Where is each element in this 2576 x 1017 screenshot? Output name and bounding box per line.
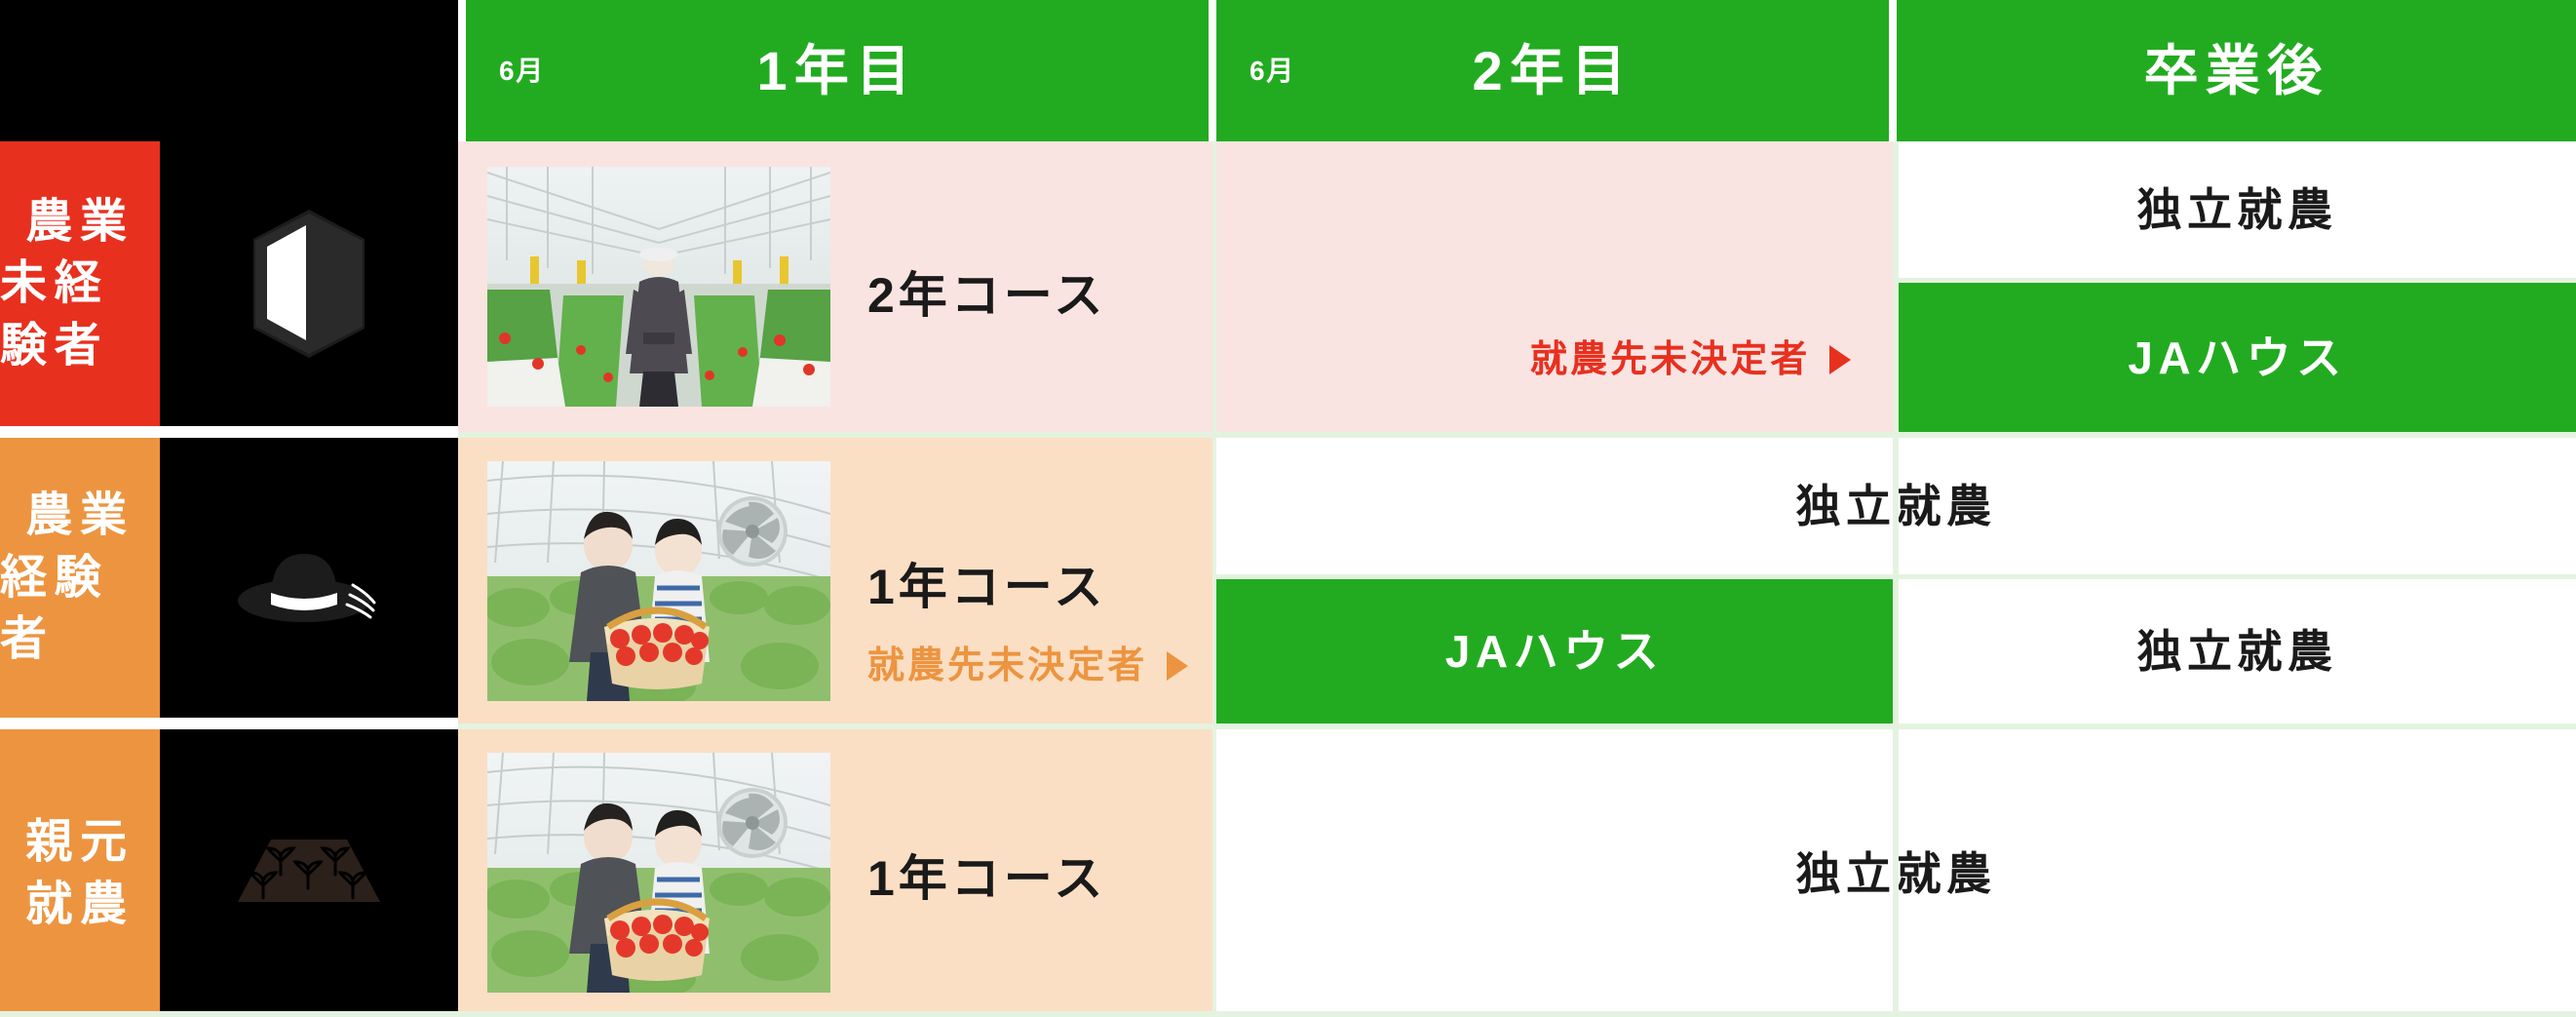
- outcome-label-1-1: JAハウス: [1445, 629, 1664, 674]
- course-flow-chart: 6月 1年目 6月 2年目 卒業後 農業 未経験者: [0, 0, 2576, 1017]
- arrow-right-icon-0: [1829, 345, 1851, 374]
- category-icon-cell-2: [160, 729, 458, 1017]
- header-year-1-month: 6月: [499, 58, 545, 85]
- header-year-2-title: 2年目: [1473, 44, 1634, 98]
- header-after-graduation: 卒業後: [1897, 0, 2576, 141]
- category-label-2-line2: 就農: [25, 874, 134, 935]
- outcome-label-0-0: 独立就農: [2136, 187, 2337, 232]
- header-year-2-month: 6月: [1250, 58, 1295, 85]
- column-divider-graduation: [1893, 141, 1899, 1017]
- outcome-cell-0-0: 独立就農: [1899, 141, 2576, 278]
- category-icon-cell-0: [160, 141, 458, 432]
- category-label-2-line1: 親元: [25, 811, 134, 873]
- header-year-2: 6月 2年目: [1216, 0, 1893, 141]
- undecided-note-1: 就農先未決定者: [867, 647, 1188, 685]
- undecided-note-1-label: 就農先未決定者: [867, 647, 1147, 685]
- undecided-note-0: 就農先未決定者: [1530, 341, 1851, 378]
- outcome-cell-0-1: JAハウス: [1899, 283, 2576, 432]
- course-label-0: 2年コース: [867, 271, 1106, 320]
- row-divider-1: [458, 724, 2576, 729]
- seedling-field-icon: [238, 840, 380, 908]
- header-corner-blank: [0, 0, 458, 141]
- course-label-1: 1年コース: [867, 563, 1106, 611]
- category-label-0-line2: 未経験者: [0, 253, 160, 376]
- arrow-right-icon-1: [1167, 651, 1188, 681]
- row-body-2: 1年コース: [458, 729, 1216, 1017]
- category-cell-2: 親元 就農: [0, 729, 160, 1017]
- straw-hat-icon: [236, 525, 382, 632]
- header-after-graduation-title: 卒業後: [2144, 44, 2329, 98]
- category-cell-0: 農業 未経験者: [0, 141, 160, 432]
- course-label-2: 1年コース: [867, 854, 1106, 903]
- row-body-1: 1年コース 就農先未決定者: [458, 438, 1216, 724]
- row-photo-2: [487, 753, 830, 993]
- outcome-cell-1-2: 独立就農: [1899, 579, 2576, 724]
- category-label-1-line2: 経験者: [0, 547, 160, 671]
- category-label-1-line1: 農業: [25, 485, 134, 546]
- header-year-1-title: 1年目: [757, 44, 918, 98]
- row-photo-1: [487, 461, 830, 701]
- beginner-leaf-mark-icon: [246, 210, 372, 358]
- bottom-edge: [0, 1011, 2576, 1017]
- outcome-divider-0: [1899, 278, 2576, 283]
- category-label-0-line1: 農業: [25, 191, 134, 253]
- outcome-cell-1-1: JAハウス: [1216, 579, 1893, 724]
- outcome-label-1-2: 独立就農: [2136, 629, 2337, 674]
- outcome-label-0-1: JAハウス: [2128, 335, 2346, 380]
- row-photo-0: [487, 167, 830, 407]
- category-icon-cell-1: [160, 438, 458, 724]
- column-divider-year2: [1212, 141, 1216, 1017]
- undecided-note-0-label: 就農先未決定者: [1530, 341, 1810, 378]
- header-year-1: 6月 1年目: [466, 0, 1212, 141]
- category-cell-1: 農業 経験者: [0, 438, 160, 724]
- row-divider-0: [458, 432, 2576, 438]
- row-body-0: 2年コース 就農先未決定者: [458, 141, 1899, 432]
